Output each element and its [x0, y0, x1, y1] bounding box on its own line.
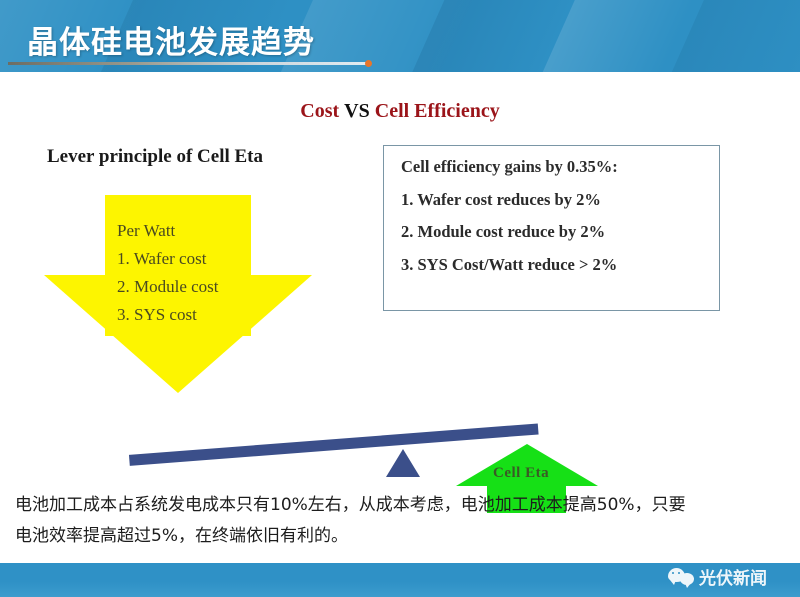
wechat-label: 光伏新闻 [699, 564, 767, 589]
list-item: Cell efficiency gains by 0.35%: [401, 159, 719, 176]
list-item: Per Watt [117, 217, 219, 245]
bottom-note-line: 电池加工成本占系统发电成本只有10%左右，从成本考虑，电池加工成本提高50%，只… [15, 490, 790, 521]
slide-body: Cost VS Cell Efficiency Lever principle … [0, 72, 800, 563]
wechat-icon [668, 566, 694, 588]
header-accent-dot-icon [365, 60, 372, 67]
bottom-note-line: 电池效率提高超过5%，在终端依旧有利的。 [15, 521, 790, 552]
list-item: 3. SYS Cost/Watt reduce > 2% [401, 257, 719, 274]
wechat-bubble-small [680, 573, 694, 585]
header-texture-streak [530, 0, 700, 72]
cost-arrow-label: Per Watt 1. Wafer cost 2. Module cost 3.… [117, 217, 219, 329]
wechat-dot [678, 572, 680, 574]
vs-heading-efficiency: Cell Efficiency [375, 100, 500, 122]
cost-down-arrow-icon: Per Watt 1. Wafer cost 2. Module cost 3.… [44, 195, 312, 393]
lever-fulcrum-triangle [386, 449, 420, 477]
vs-heading-vs: VS [344, 100, 370, 122]
slide-header: 晶体硅电池发展趋势 [0, 0, 800, 72]
list-item: 1. Wafer cost reduces by 2% [401, 192, 719, 209]
efficiency-gains-box: Cell efficiency gains by 0.35%: 1. Wafer… [383, 145, 720, 311]
efficiency-gains-list: Cell efficiency gains by 0.35%: 1. Wafer… [384, 146, 719, 273]
slide-footer: 光伏新闻 [0, 563, 800, 597]
list-item: 2. Module cost [117, 273, 219, 301]
wechat-watermark: 光伏新闻 [668, 564, 767, 589]
header-texture-streak [661, 0, 800, 72]
lever-principle-heading: Lever principle of Cell Eta [47, 146, 263, 168]
cost-vs-efficiency-heading: Cost VS Cell Efficiency [0, 100, 800, 123]
vs-heading-cost: Cost [300, 100, 339, 122]
header-underline [8, 62, 368, 65]
list-item: 2. Module cost reduce by 2% [401, 224, 719, 241]
slide-canvas: 晶体硅电池发展趋势 Cost VS Cell Efficiency Lever … [0, 0, 800, 597]
bottom-note-paragraph: 电池加工成本占系统发电成本只有10%左右，从成本考虑，电池加工成本提高50%，只… [15, 490, 790, 552]
list-item: 3. SYS cost [117, 301, 219, 329]
page-title: 晶体硅电池发展趋势 [27, 17, 315, 62]
eta-arrow-label: Cell Eta [493, 465, 549, 482]
list-item: 1. Wafer cost [117, 245, 219, 273]
wechat-dot [672, 572, 674, 574]
header-texture-streak [401, 0, 580, 72]
